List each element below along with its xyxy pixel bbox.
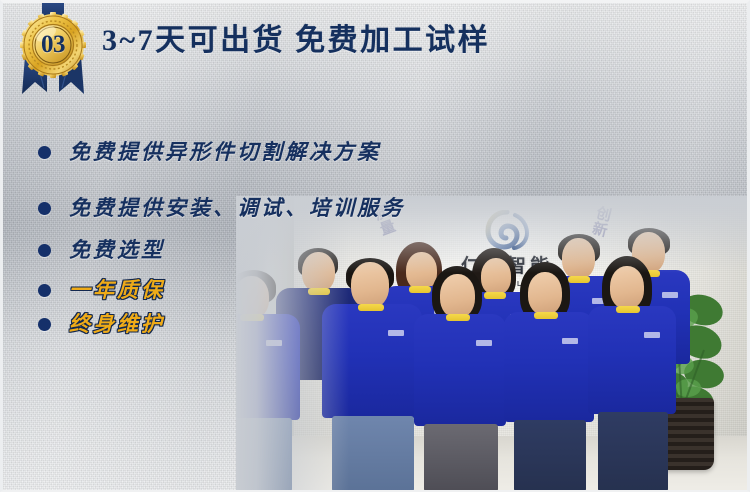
- list-item-label: 免费提供安装、调试、培训服务: [69, 198, 405, 219]
- team-photo-content: 质量 创新 仁光智能 RAY INTE: [236, 196, 750, 492]
- slide-canvas: 质量 创新 仁光智能 RAY INTE: [0, 0, 750, 492]
- list-item-label: 免费提供异形件切割解决方案: [69, 142, 381, 163]
- bullet-dot-icon: [38, 244, 51, 257]
- badge-number: 03: [20, 12, 86, 78]
- bullet-dot-icon: [38, 284, 51, 297]
- list-item-label: 终身维护: [69, 314, 165, 335]
- list-item-label: 免费选型: [69, 240, 165, 261]
- bullet-dot-icon: [38, 202, 51, 215]
- company-logo-mark: [485, 210, 529, 250]
- bullet-dot-icon: [38, 318, 51, 331]
- bullet-dot-icon: [38, 146, 51, 159]
- list-item-label: 一年质保: [69, 280, 165, 301]
- team-photo: 质量 创新 仁光智能 RAY INTE: [236, 196, 750, 492]
- page-title: 3~7天可出货 免费加工试样: [102, 26, 490, 56]
- step-badge: 03: [13, 2, 93, 94]
